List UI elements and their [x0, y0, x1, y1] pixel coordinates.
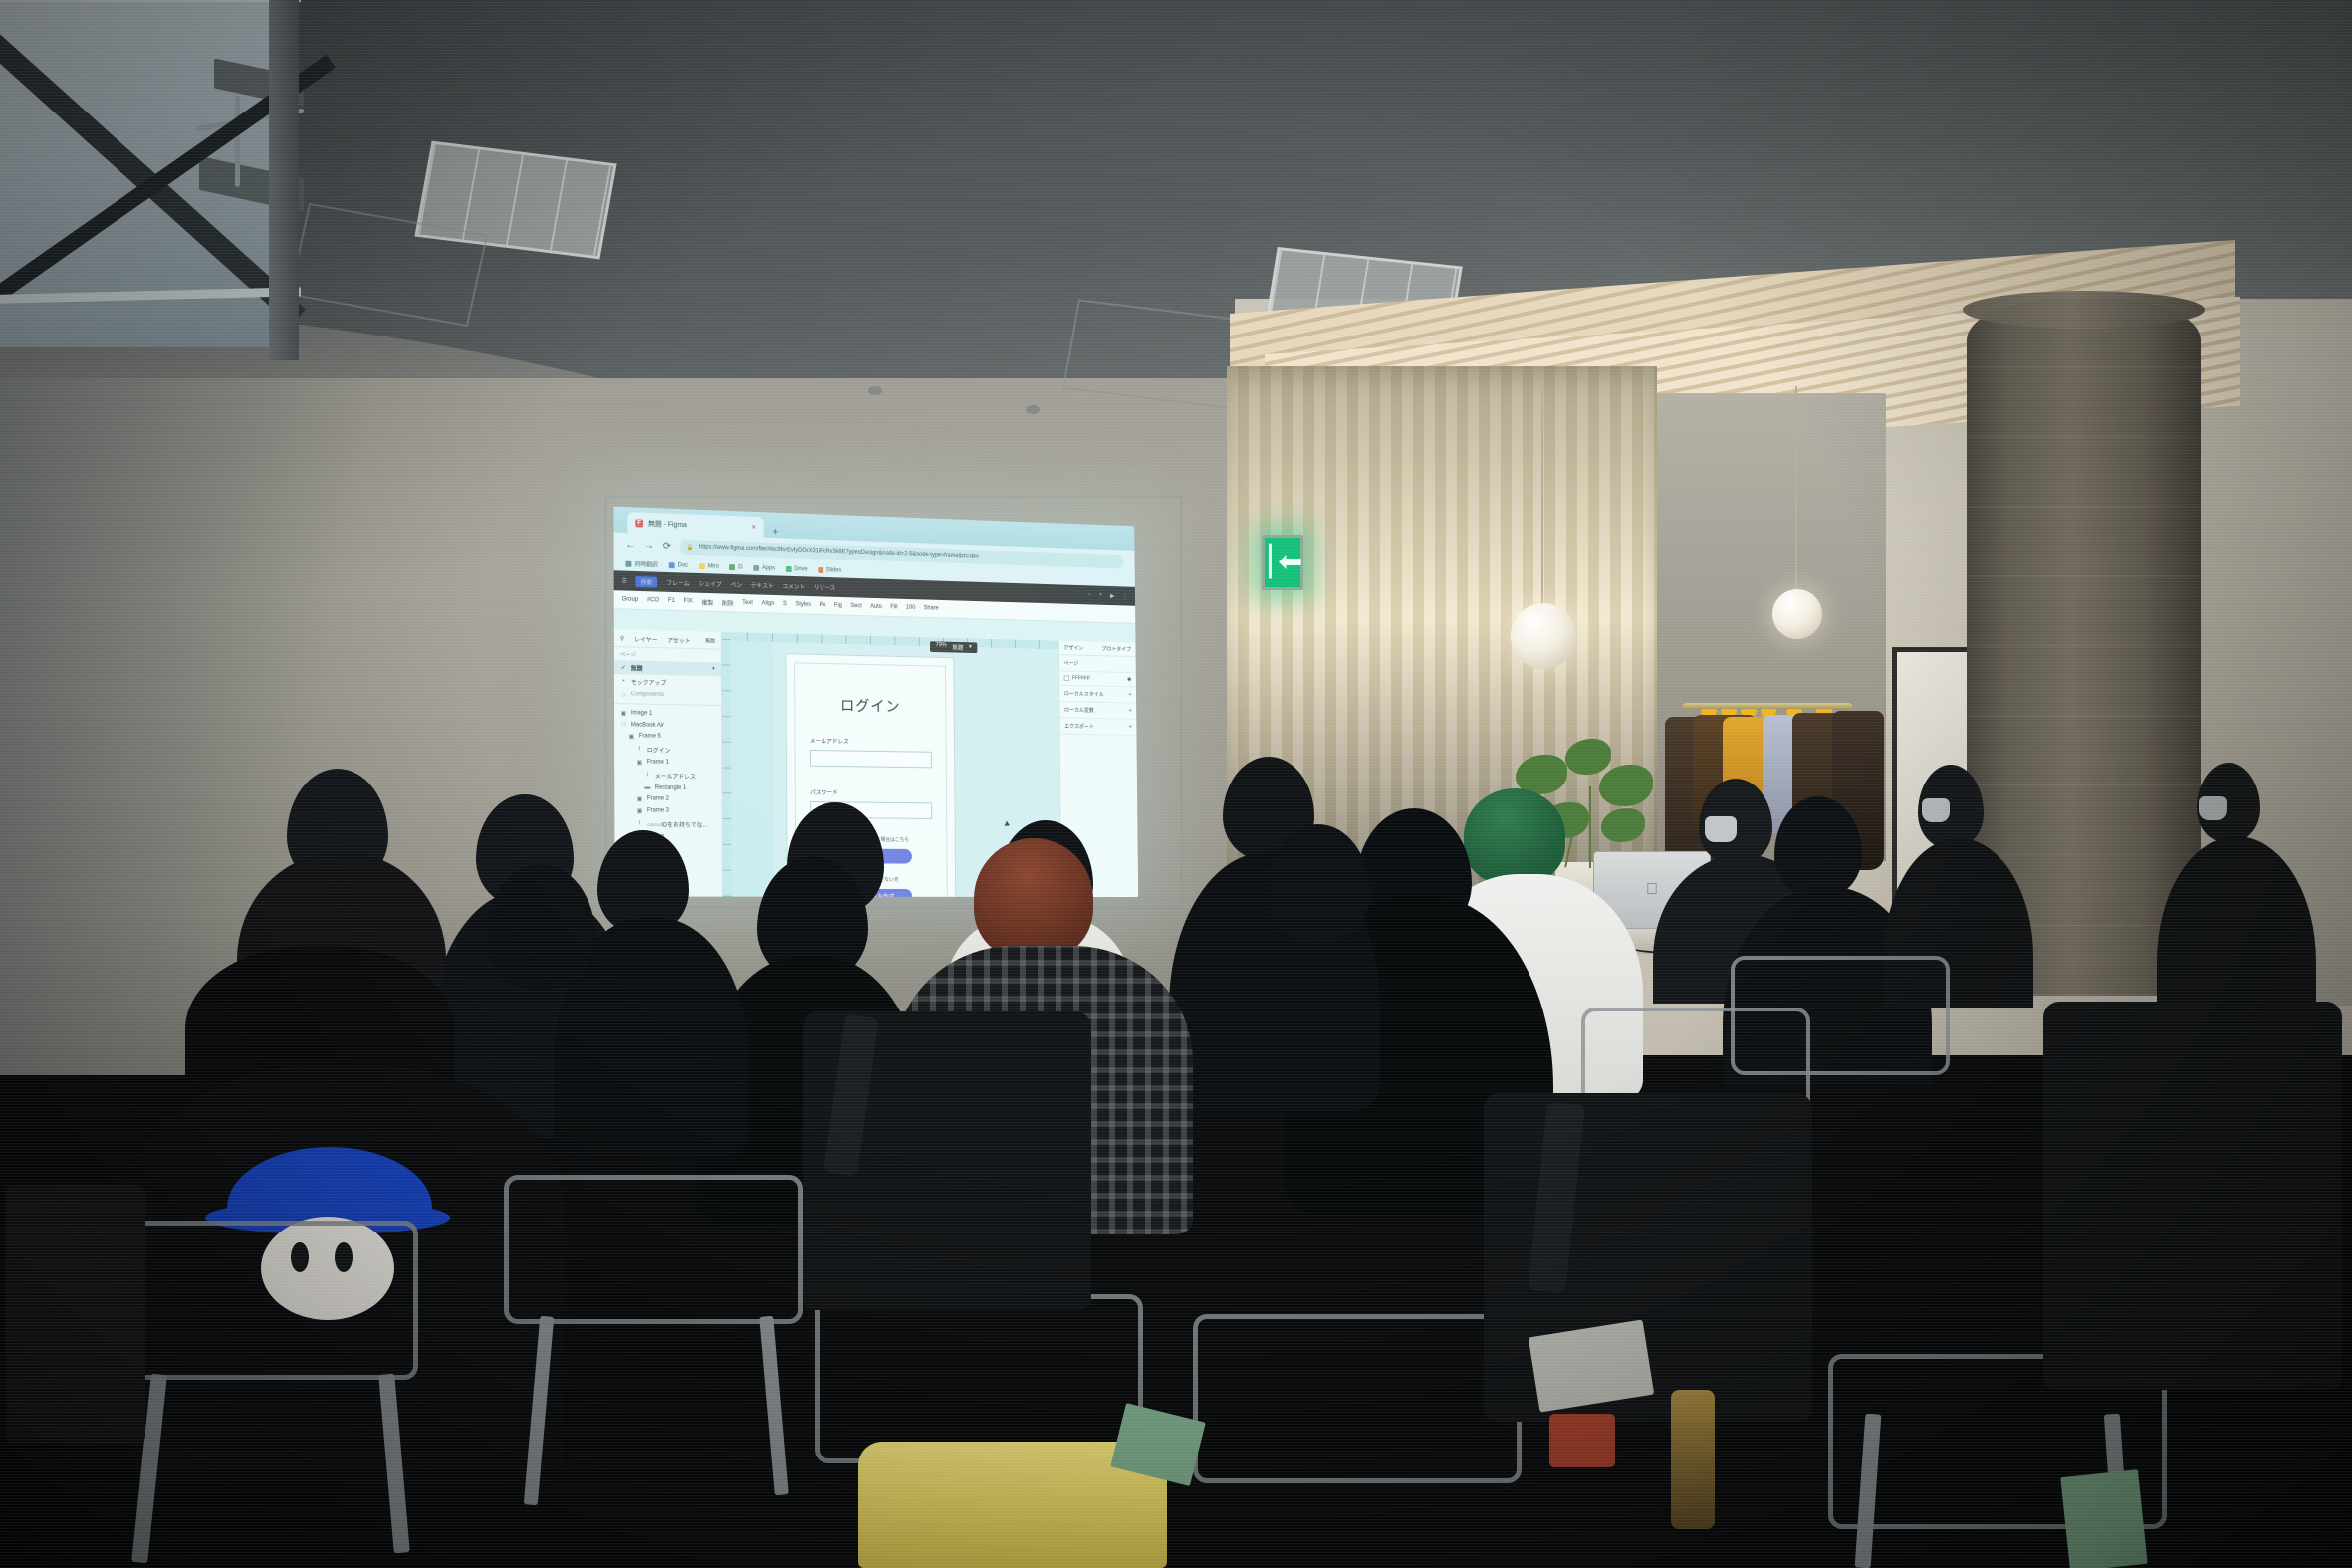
toolbar2-item[interactable]: S [783, 601, 787, 607]
backpack [2043, 1002, 2342, 1390]
figma-move-tool[interactable]: 移動 [636, 575, 658, 587]
search-icon[interactable]: ⚲ [620, 635, 624, 642]
chair-leg [759, 1316, 789, 1496]
figma-pen-tool[interactable]: ペン [730, 579, 742, 588]
check-icon: ✓ [620, 664, 627, 671]
close-tab-icon[interactable]: × [751, 523, 756, 532]
figma-share-icon[interactable]: ⋮ [1122, 593, 1127, 600]
stair-post [235, 96, 240, 187]
apple-logo-icon:  [1646, 882, 1658, 898]
layer-row[interactable]: T ○○○○IDをお持ちでな… [614, 816, 721, 831]
bookmark-item[interactable]: Apps [753, 564, 775, 571]
frame-icon: ▣ [636, 759, 643, 766]
text-icon: T [636, 820, 643, 826]
file-name-label: 無題 [705, 637, 715, 644]
local-variables-label: ローカル変数 [1064, 706, 1094, 714]
image-icon: ▣ [620, 710, 627, 717]
sprinkler-head-2 [1026, 405, 1040, 414]
layer-label: ○○○○IDをお持ちでな… [647, 819, 708, 828]
toolbar2-item[interactable]: Styles [795, 601, 811, 607]
bookmark-label: Miro [707, 563, 718, 569]
pendant-lamp-cord-2 [1795, 386, 1797, 589]
add-style-icon[interactable]: + [1129, 692, 1132, 698]
toolbar2-item[interactable]: 複製 [701, 597, 713, 606]
add-export-icon[interactable]: + [1129, 724, 1132, 730]
mouse-cursor-icon [1005, 821, 1011, 828]
toolbar2-item[interactable]: FIX [684, 598, 693, 604]
layer-label: Frame 1 [647, 759, 669, 765]
tab-assets[interactable]: アセット [667, 635, 690, 645]
figma-menu-icon[interactable]: ☰ [622, 577, 627, 584]
section-icon: ▪ [620, 678, 627, 684]
toolbar2-item[interactable]: Text [742, 600, 753, 606]
figma-favicon-icon: F [635, 519, 643, 527]
figma-zoom-in-icon[interactable]: + [1099, 592, 1102, 598]
chair-armrest [1193, 1314, 1522, 1483]
toolbar2-item[interactable]: Sect [850, 603, 861, 609]
phone-device [1549, 1414, 1615, 1467]
page-item-label: 無題 [631, 663, 643, 672]
frame-icon: □ [620, 722, 627, 728]
toolbar2-item[interactable]: Auto [870, 604, 882, 610]
chair-armrest [504, 1175, 803, 1324]
bookmark-item[interactable]: Drive [786, 565, 808, 572]
toolbar2-item[interactable]: #CO [647, 597, 659, 603]
layer-label: ログイン [647, 745, 671, 754]
toolbar-spacer [844, 587, 1080, 594]
figma-comment-tool[interactable]: コメント [782, 581, 805, 591]
green-beanie [1464, 788, 1565, 884]
frame-icon: ▣ [636, 807, 643, 814]
layer-row[interactable]: T メールアドレス [614, 768, 721, 783]
export-row[interactable]: エクスポート + [1059, 718, 1136, 736]
bookmark-label: Slides [826, 567, 842, 573]
tab-design[interactable]: デザイン [1063, 644, 1083, 652]
bookmark-label: G [738, 564, 743, 570]
canvas-gutter [730, 641, 774, 897]
section-mockup-label: モックアップ [631, 677, 666, 687]
text-icon: T [644, 772, 651, 778]
chevron-down-icon[interactable]: ▾ [969, 643, 972, 652]
layer-row[interactable]: ▣ Frame 3 [614, 804, 721, 817]
water-bottle [1671, 1390, 1715, 1529]
figma-present-icon[interactable]: ▶ [1110, 592, 1114, 599]
export-label: エクスポート [1064, 722, 1094, 730]
red-hair [974, 838, 1093, 960]
toolbar2-item[interactable]: Align [762, 601, 775, 607]
fill-visibility-icon[interactable]: ◉ [1127, 677, 1131, 683]
add-variable-icon[interactable]: + [1129, 708, 1132, 714]
bookmark-item[interactable]: Slides [818, 566, 841, 573]
chair-armrest [815, 1294, 1143, 1463]
toolbar2-item[interactable]: Px [820, 602, 826, 608]
new-tab-icon[interactable]: + [767, 526, 783, 538]
back-icon[interactable]: ← [625, 539, 635, 550]
figma-frame-tool[interactable]: フレーム [666, 577, 689, 587]
figma-shape-tool[interactable]: シェイプ [698, 578, 721, 588]
face-mask [2199, 796, 2227, 820]
bookmark-label: Doc [678, 562, 688, 568]
chair-armrest [119, 1221, 418, 1380]
pendant-lamp-2 [1772, 589, 1822, 639]
glass-edge [269, 0, 299, 360]
lock-icon: 🔒 [687, 543, 694, 550]
layer-label: Image 1 [631, 710, 652, 716]
url-text: https://www.figma.com/file/Abc9fsrEvIyDG… [699, 544, 979, 559]
component-icon: ◇ [620, 691, 627, 698]
bookmark-item[interactable]: Miro [699, 563, 719, 570]
bookmark-label: 同時翻訳 [634, 560, 658, 569]
fill-row[interactable]: FFFFFF ◉ [1059, 671, 1136, 687]
section-title: ページ [1063, 659, 1078, 667]
reload-icon[interactable]: ⟳ [663, 541, 671, 552]
local-variables-row[interactable]: ローカル変数 + [1059, 702, 1136, 720]
zoom-level: 79% [936, 642, 947, 651]
tab-prototype[interactable]: プロトタイプ [1101, 645, 1131, 653]
toolbar2-item[interactable]: F1 [668, 598, 675, 604]
canvas-page-name: 無題 [952, 643, 963, 652]
face-mask [1922, 798, 1950, 822]
bookmark-item[interactable]: 同時翻訳 [625, 560, 658, 569]
figma-resources-tool[interactable]: リソース [814, 582, 836, 591]
tab-layers[interactable]: レイヤー [634, 635, 657, 645]
section-components-label: Components [631, 691, 665, 698]
panel-section-page: ページ [1059, 655, 1136, 673]
layer-label: Frame 5 [639, 733, 661, 739]
toolbar2-item[interactable]: Fig [834, 603, 842, 609]
bookmark-item[interactable]: Doc [669, 562, 688, 569]
local-styles-label: ローカルスタイル [1064, 690, 1104, 698]
fill-swatch-group[interactable]: FFFFFF [1064, 675, 1090, 681]
pendant-lamp-cord-1 [1541, 380, 1543, 611]
layer-row[interactable]: T ログイン [614, 742, 721, 758]
bookmark-label: Drive [794, 566, 807, 572]
layer-label: Frame 3 [647, 807, 669, 813]
glass-frame-top [0, 0, 301, 2]
fill-color-swatch[interactable] [1064, 675, 1070, 681]
frame-icon: ▣ [636, 795, 643, 802]
face-mask [1705, 816, 1737, 842]
toolbar2-item[interactable]: Fill [890, 604, 897, 610]
emergency-exit-sign: ⎮⬅ [1262, 535, 1303, 590]
chair-seat [6, 1185, 145, 1444]
text-icon: T [636, 746, 643, 752]
browser-tab-title: 無題 - Figma [648, 518, 687, 529]
figma-zoom-indicator[interactable]: 79% 無題 ▾ [930, 641, 977, 653]
layer-label: メールアドレス [655, 771, 696, 780]
bookmark-item[interactable]: G [729, 564, 742, 570]
toolbar2-item[interactable]: Group [622, 596, 638, 602]
bookmark-label: Apps [762, 565, 775, 571]
local-styles-row[interactable]: ローカルスタイル + [1059, 686, 1136, 704]
pendant-lamp-1 [1511, 603, 1576, 669]
layer-label: Frame 2 [647, 795, 669, 801]
frame-icon: ▣ [628, 733, 635, 740]
layer-label: Rectangle 1 [655, 784, 686, 790]
green-paper-card [2060, 1469, 2148, 1568]
presentation-room-photo: ⎮⬅ F 無題 - Figma × + ← → ⟳ [0, 0, 2352, 1568]
figma-text-tool[interactable]: テキスト [751, 580, 774, 590]
forward-icon[interactable]: → [644, 540, 654, 551]
figma-zoom-out-icon[interactable]: − [1088, 592, 1091, 598]
panel-divider [614, 703, 721, 706]
section-components[interactable]: ◇ Components [614, 688, 721, 702]
fill-value: FFFFFF [1072, 675, 1090, 681]
toolbar2-item[interactable]: 100 [906, 605, 915, 611]
sprinkler-head-1 [868, 386, 882, 395]
add-page-icon[interactable]: + [712, 666, 715, 672]
plant-stem [1589, 786, 1591, 868]
rectangle-icon: ▬ [644, 784, 651, 790]
layer-label: MacBook Air [631, 722, 664, 729]
toolbar2-item[interactable]: Share [924, 605, 939, 611]
exit-running-man-icon: ⎮⬅ [1263, 548, 1303, 577]
toolbar2-item[interactable]: 削除 [722, 598, 734, 607]
layer-row[interactable]: ▣ Frame 2 [614, 792, 721, 805]
